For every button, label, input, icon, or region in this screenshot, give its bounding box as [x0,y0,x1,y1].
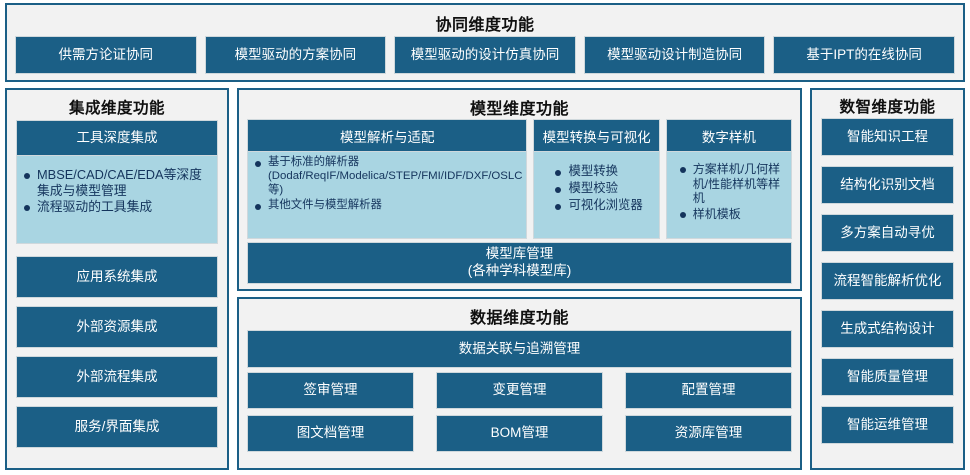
model-bullets-parsing: 基于标准的解析器 (Dodaf/ReqIF/Modelica/STEP/FMI/… [247,152,527,239]
model-column-row: 模型解析与适配 基于标准的解析器 (Dodaf/ReqIF/Modelica/S… [247,119,792,239]
model-bullets-conversion: 模型转换 模型校验 可视化浏览器 [533,152,659,239]
model-bullet-item: 样机模板 [693,207,787,222]
smart-tile-multi-scheme-optimization[interactable]: 多方案自动寻优 [821,214,954,252]
integration-panel-title: 集成维度功能 [7,96,227,118]
integration-tile-service-ui[interactable]: 服务/界面集成 [16,406,218,448]
collaboration-dimension-panel: 协同维度功能 供需方论证协同 模型驱动的方案协同 模型驱动的设计仿真协同 模型驱… [5,3,965,82]
collab-tile-supply-demand[interactable]: 供需方论证协同 [15,36,197,74]
model-library-line2: (各种学科模型库) [468,263,572,280]
integration-tile-external-resource[interactable]: 外部资源集成 [16,306,218,348]
model-header-digital-prototype[interactable]: 数字样机 [666,119,792,152]
model-bullet-item: 方案样机/几何样机/性能样机等样机 [693,162,787,206]
model-panel-title: 模型维度功能 [239,95,800,119]
data-dimension-panel: 数据维度功能 数据关联与追溯管理 签审管理 变更管理 配置管理 图文档管理 BO… [237,297,802,470]
model-bullet-item: 可视化浏览器 [568,198,654,213]
integration-bullet-item: 流程驱动的工具集成 [37,199,213,215]
smart-tile-generative-structure-design[interactable]: 生成式结构设计 [821,310,954,348]
collab-tile-model-driven-design-simulation[interactable]: 模型驱动的设计仿真协同 [394,36,576,74]
data-tile-signoff-management[interactable]: 签审管理 [247,372,414,409]
data-tile-row-2: 图文档管理 BOM管理 资源库管理 [247,415,792,452]
smart-tile-knowledge-engineering[interactable]: 智能知识工程 [821,118,954,156]
model-bullet-item: 基于标准的解析器 (Dodaf/ReqIF/Modelica/STEP/FMI/… [268,156,522,198]
integration-tile-application-system[interactable]: 应用系统集成 [16,256,218,298]
collab-tile-ipt-online[interactable]: 基于IPT的在线协同 [773,36,955,74]
model-header-parsing[interactable]: 模型解析与适配 [247,119,527,152]
collaboration-tile-row: 供需方论证协同 模型驱动的方案协同 模型驱动的设计仿真协同 模型驱动设计制造协同… [15,36,955,74]
integration-bullet-panel: MBSE/CAD/CAE/EDA等深度集成与模型管理 流程驱动的工具集成 [16,156,218,244]
data-tile-row-1: 签审管理 变更管理 配置管理 [247,372,792,409]
data-tile-document-management[interactable]: 图文档管理 [247,415,414,452]
data-panel-title: 数据维度功能 [239,304,800,328]
data-tile-resource-library-management[interactable]: 资源库管理 [625,415,792,452]
smart-tile-operations-management[interactable]: 智能运维管理 [821,406,954,444]
model-bullet-item: 模型转换 [568,164,654,179]
model-column-digital-prototype: 数字样机 方案样机/几何样机/性能样机等样机 样机模板 [666,119,792,239]
data-tile-configuration-management[interactable]: 配置管理 [625,372,792,409]
smart-tile-quality-management[interactable]: 智能质量管理 [821,358,954,396]
integration-tile-external-process[interactable]: 外部流程集成 [16,356,218,398]
smart-tile-structured-document-recognition[interactable]: 结构化识别文档 [821,166,954,204]
data-tile-association-traceability[interactable]: 数据关联与追溯管理 [247,330,792,368]
smart-dimension-panel: 数智维度功能 智能知识工程 结构化识别文档 多方案自动寻优 流程智能解析优化 生… [810,88,965,470]
integration-dimension-panel: 集成维度功能 工具深度集成 MBSE/CAD/CAE/EDA等深度集成与模型管理… [5,88,229,470]
model-bullet-item: 其他文件与模型解析器 [268,199,522,213]
smart-panel-title: 数智维度功能 [812,95,963,117]
architecture-diagram: 协同维度功能 供需方论证协同 模型驱动的方案协同 模型驱动的设计仿真协同 模型驱… [0,0,970,475]
model-header-conversion[interactable]: 模型转换与可视化 [533,119,659,152]
model-column-parsing: 模型解析与适配 基于标准的解析器 (Dodaf/ReqIF/Modelica/S… [247,119,527,239]
model-dimension-panel: 模型维度功能 模型解析与适配 基于标准的解析器 (Dodaf/ReqIF/Mod… [237,88,802,291]
collab-tile-model-driven-scheme[interactable]: 模型驱动的方案协同 [205,36,387,74]
collab-tile-model-driven-design-manufacture[interactable]: 模型驱动设计制造协同 [584,36,766,74]
integration-tile-tool-deep-integration[interactable]: 工具深度集成 [16,120,218,156]
model-bullet-item: 模型校验 [568,181,654,196]
data-tile-bom-management[interactable]: BOM管理 [436,415,603,452]
data-tile-change-management[interactable]: 变更管理 [436,372,603,409]
smart-tile-process-intelligent-analysis[interactable]: 流程智能解析优化 [821,262,954,300]
model-tile-library-management[interactable]: 模型库管理 (各种学科模型库) [247,242,792,284]
integration-bullet-item: MBSE/CAD/CAE/EDA等深度集成与模型管理 [37,167,213,198]
model-bullets-digital-prototype: 方案样机/几何样机/性能样机等样机 样机模板 [666,152,792,239]
model-column-conversion: 模型转换与可视化 模型转换 模型校验 可视化浏览器 [533,119,659,239]
collaboration-panel-title: 协同维度功能 [7,11,963,35]
model-library-line1: 模型库管理 [486,246,554,263]
